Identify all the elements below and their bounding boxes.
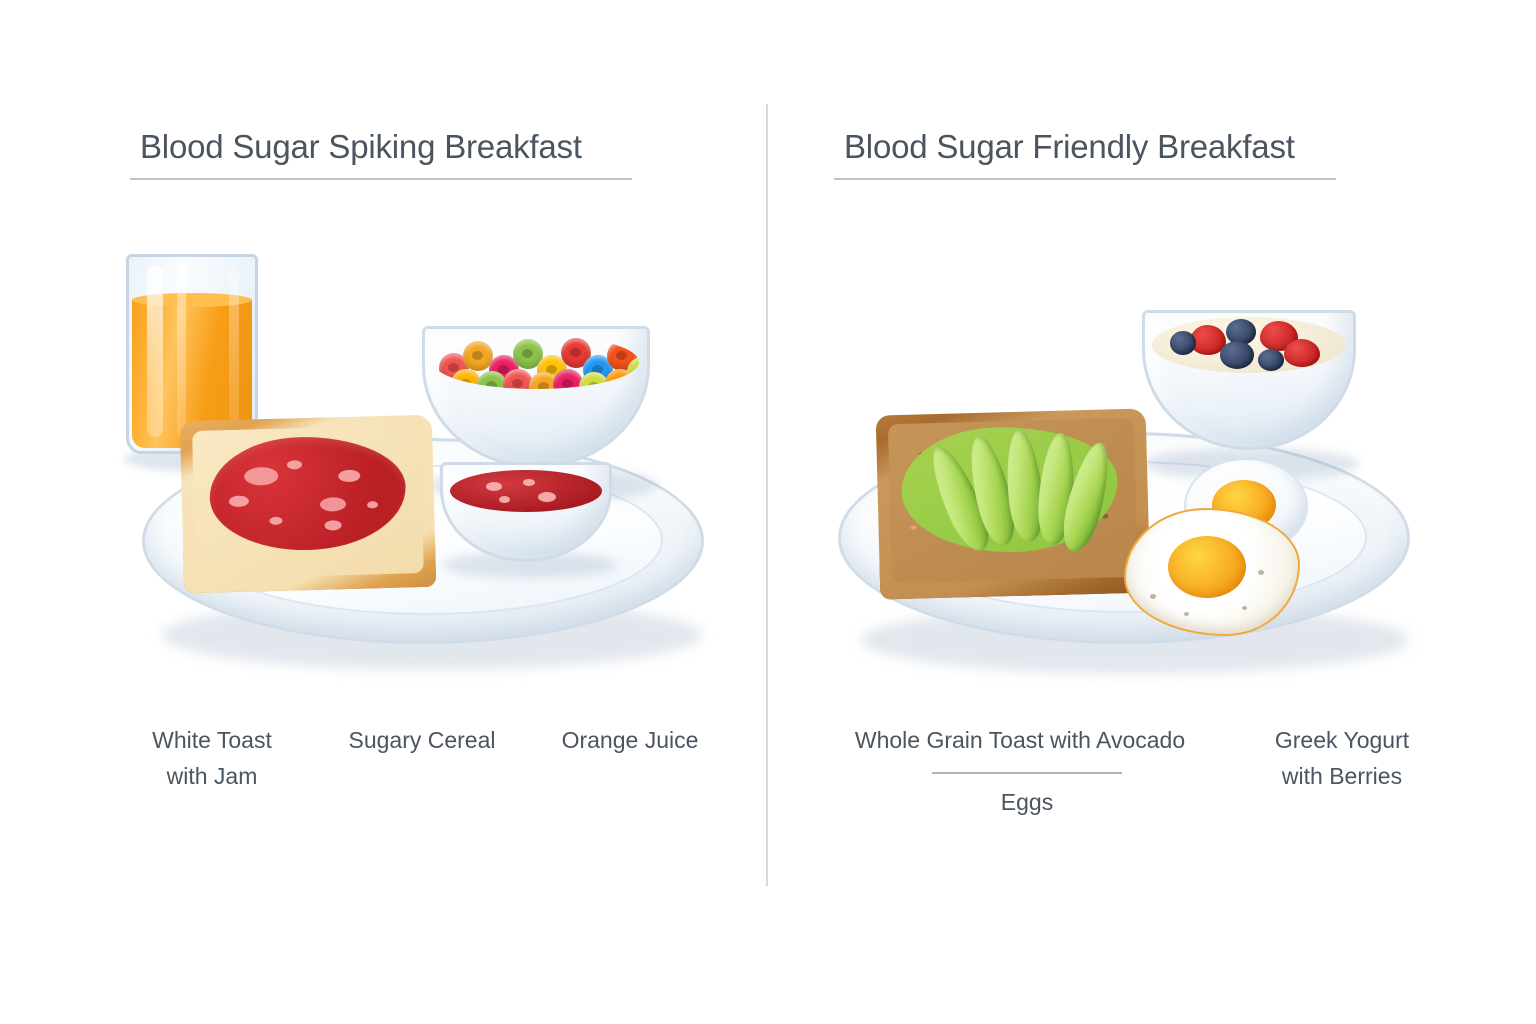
- jam-highlight: [229, 495, 249, 507]
- whole-grain-avocado-toast: [876, 408, 1151, 599]
- jam-highlight: [269, 517, 282, 525]
- right-title-rule: [834, 178, 1336, 180]
- caption-eggs: Eggs: [930, 784, 1124, 820]
- caption-sugary-cereal: Sugary Cereal: [322, 722, 522, 758]
- blueberry: [1258, 349, 1284, 371]
- left-title-rule: [130, 178, 632, 180]
- jam-highlight: [499, 496, 510, 503]
- caption-orange-juice: Orange Juice: [530, 722, 730, 758]
- raspberry: [1284, 339, 1320, 367]
- blueberry: [1170, 331, 1196, 355]
- egg-speck: [1258, 570, 1264, 575]
- egg-speck: [1184, 612, 1189, 616]
- toast-surface: [876, 408, 1151, 599]
- jam-highlight: [287, 460, 302, 469]
- jam-highlight: [324, 520, 341, 530]
- yogurt-surface: [1152, 317, 1346, 373]
- toast-surface: [180, 415, 436, 594]
- fried-egg-yolk: [1168, 536, 1246, 598]
- right-panel-title: Blood Sugar Friendly Breakfast: [844, 128, 1295, 166]
- jam-highlight: [523, 479, 535, 486]
- left-panel-title: Blood Sugar Spiking Breakfast: [140, 128, 582, 166]
- greek-yogurt-bowl: [1142, 310, 1356, 450]
- glass-highlight-right: [229, 265, 239, 437]
- egg-speck: [1150, 594, 1156, 599]
- jam-highlight: [339, 470, 361, 483]
- left-food-scene: [110, 200, 810, 700]
- infographic-canvas: Blood Sugar Spiking Breakfast: [0, 0, 1536, 1024]
- fried-egg: [1124, 508, 1300, 636]
- blueberry: [1220, 341, 1254, 369]
- cereal-contents: [433, 335, 639, 389]
- caption-divider-rule: [932, 772, 1122, 774]
- jam-highlight: [538, 492, 556, 502]
- egg-speck: [1242, 606, 1247, 610]
- panel-blood-sugar-spiking: Blood Sugar Spiking Breakfast: [110, 0, 810, 1024]
- caption-greek-yogurt-with-berries: Greek Yogurt with Berries: [1252, 722, 1432, 794]
- jam-highlight: [486, 482, 502, 491]
- jam-highlight: [367, 501, 378, 508]
- caption-whole-grain-toast-with-avocado: Whole Grain Toast with Avocado: [830, 722, 1210, 758]
- white-toast-with-jam: [180, 415, 436, 594]
- caption-white-toast-with-jam: White Toast with Jam: [122, 722, 302, 794]
- jam-ramekin-contents: [450, 470, 602, 512]
- glass-highlight-mid: [177, 265, 186, 437]
- glass-highlight-left: [147, 265, 163, 437]
- panel-blood-sugar-friendly: Blood Sugar Friendly Breakfast: [812, 0, 1512, 1024]
- right-food-scene: [812, 200, 1512, 700]
- grain-seed: [910, 525, 916, 529]
